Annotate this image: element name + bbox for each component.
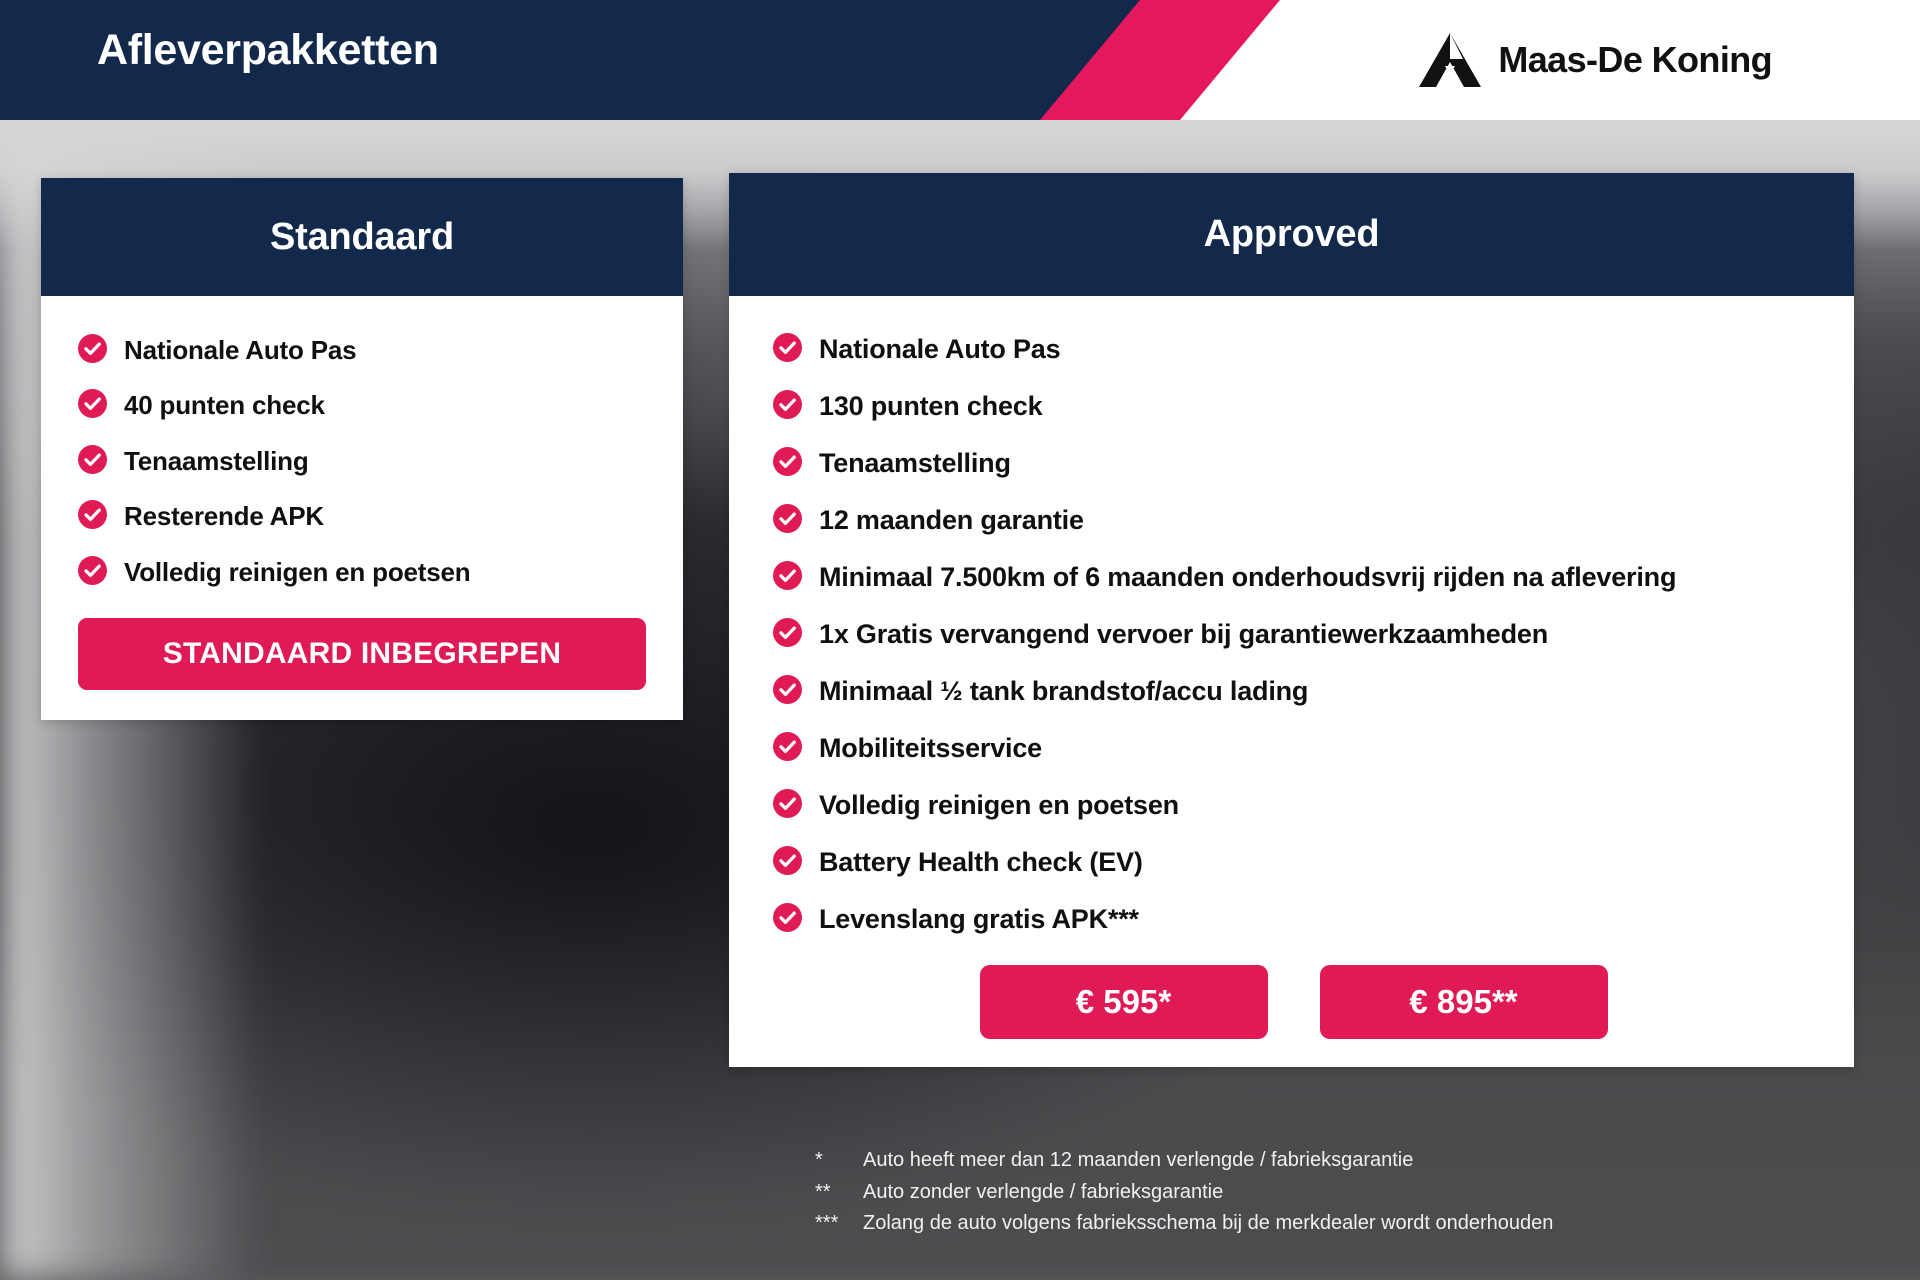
page-title: Afleverpakketten <box>97 26 439 75</box>
list-item: 40 punten check <box>78 386 646 424</box>
list-item: Mobiliteitsservice <box>773 729 1814 769</box>
list-item: 12 maanden garantie <box>773 501 1814 541</box>
feature-label: Levenslang gratis APK*** <box>819 900 1139 940</box>
feature-label: Minimaal ½ tank brandstof/accu lading <box>819 672 1308 712</box>
feature-label: 1x Gratis vervangend vervoer bij garanti… <box>819 615 1548 655</box>
footnote-text: Zolang de auto volgens fabrieksschema bi… <box>863 1211 1553 1237</box>
check-circle-icon <box>78 500 107 529</box>
page-header: Afleverpakketten Maas-De Koning <box>0 0 1920 120</box>
check-circle-icon <box>78 445 107 474</box>
check-circle-icon <box>773 504 802 533</box>
list-item: Nationale Auto Pas <box>773 330 1814 370</box>
list-item: Minimaal ½ tank brandstof/accu lading <box>773 672 1814 712</box>
footnote-marker: * <box>815 1148 863 1174</box>
card-title-approved: Approved <box>1204 213 1380 256</box>
standaard-inbegrepen-button[interactable]: STANDAARD INBEGREPEN <box>78 618 646 690</box>
list-item: Tenaamstelling <box>78 442 646 480</box>
list-item: 130 punten check <box>773 387 1814 427</box>
feature-label: Mobiliteitsservice <box>819 729 1042 769</box>
feature-label: Battery Health check (EV) <box>819 843 1143 883</box>
footnote-row: *** Zolang de auto volgens fabrieksschem… <box>815 1211 1553 1237</box>
check-circle-icon <box>773 447 802 476</box>
price-button-row: € 595* € 895** <box>773 965 1814 1039</box>
check-circle-icon <box>773 390 802 419</box>
feature-list-approved: Nationale Auto Pas 130 punten check Tena… <box>773 330 1814 939</box>
package-card-approved: Approved Nationale Auto Pas 130 punten <box>729 173 1854 1067</box>
brand-lockup: Maas-De Koning <box>1419 33 1772 87</box>
footnote-text: Auto zonder verlengde / fabrieksgarantie <box>863 1180 1223 1206</box>
feature-label: 40 punten check <box>124 386 325 424</box>
footnote-text: Auto heeft meer dan 12 maanden verlengde… <box>863 1148 1413 1174</box>
feature-label: Minimaal 7.500km of 6 maanden onderhouds… <box>819 558 1676 598</box>
list-item: Resterende APK <box>78 497 646 535</box>
list-item: Levenslang gratis APK*** <box>773 900 1814 940</box>
footnote-marker: ** <box>815 1180 863 1206</box>
feature-label: 130 punten check <box>819 387 1042 427</box>
price-button-895[interactable]: € 895** <box>1320 965 1608 1039</box>
card-body-standaard: Nationale Auto Pas 40 punten check Tenaa… <box>41 296 683 720</box>
check-circle-icon <box>773 618 802 647</box>
check-circle-icon <box>773 789 802 818</box>
feature-label: Nationale Auto Pas <box>819 330 1060 370</box>
feature-label: Volledig reinigen en poetsen <box>819 786 1179 826</box>
feature-label: 12 maanden garantie <box>819 501 1084 541</box>
poster-root: Afleverpakketten Maas-De Koning Standaar… <box>0 0 1920 1280</box>
footnotes-block: * Auto heeft meer dan 12 maanden verleng… <box>815 1148 1553 1243</box>
list-item: Tenaamstelling <box>773 444 1814 484</box>
check-circle-icon <box>773 333 802 362</box>
feature-label: Tenaamstelling <box>124 442 309 480</box>
feature-label: Volledig reinigen en poetsen <box>124 553 470 591</box>
feature-label: Resterende APK <box>124 497 324 535</box>
feature-label: Tenaamstelling <box>819 444 1011 484</box>
check-circle-icon <box>78 334 107 363</box>
list-item: Minimaal 7.500km of 6 maanden onderhouds… <box>773 558 1814 598</box>
maas-de-koning-m-logo-icon <box>1419 33 1481 87</box>
check-circle-icon <box>78 389 107 418</box>
feature-list-standaard: Nationale Auto Pas 40 punten check Tenaa… <box>78 331 646 591</box>
footnote-row: ** Auto zonder verlengde / fabrieksgaran… <box>815 1180 1553 1206</box>
card-title-standaard: Standaard <box>270 216 454 259</box>
feature-label: Nationale Auto Pas <box>124 331 356 369</box>
price-button-595[interactable]: € 595* <box>980 965 1268 1039</box>
check-circle-icon <box>773 903 802 932</box>
check-circle-icon <box>78 556 107 585</box>
card-header-standaard: Standaard <box>41 178 683 296</box>
brand-name: Maas-De Koning <box>1498 39 1772 81</box>
list-item: Battery Health check (EV) <box>773 843 1814 883</box>
package-card-standaard: Standaard Nationale Auto Pas 40 punten <box>41 178 683 720</box>
check-circle-icon <box>773 846 802 875</box>
list-item: Volledig reinigen en poetsen <box>78 553 646 591</box>
card-body-approved: Nationale Auto Pas 130 punten check Tena… <box>729 296 1854 1067</box>
check-circle-icon <box>773 561 802 590</box>
check-circle-icon <box>773 675 802 704</box>
check-circle-icon <box>773 732 802 761</box>
list-item: 1x Gratis vervangend vervoer bij garanti… <box>773 615 1814 655</box>
footnote-row: * Auto heeft meer dan 12 maanden verleng… <box>815 1148 1553 1174</box>
footnote-marker: *** <box>815 1211 863 1237</box>
list-item: Volledig reinigen en poetsen <box>773 786 1814 826</box>
card-header-approved: Approved <box>729 173 1854 296</box>
list-item: Nationale Auto Pas <box>78 331 646 369</box>
